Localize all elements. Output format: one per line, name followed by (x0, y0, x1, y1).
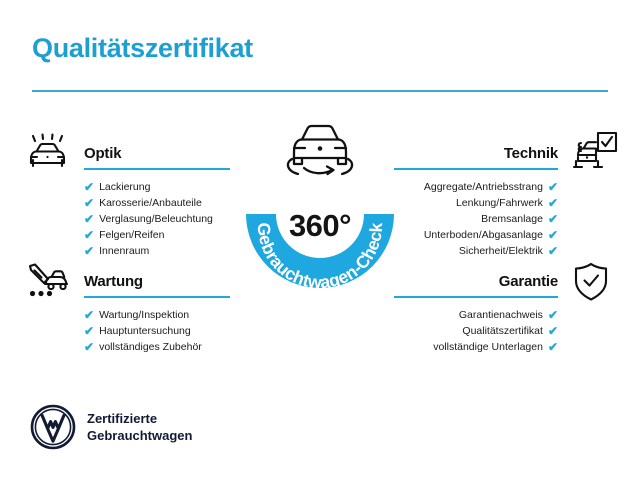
list-item-label: Lackierung (99, 179, 150, 195)
list-item: ✔Garantienachweis (394, 307, 558, 323)
list-item-label: Bremsanlage (481, 211, 543, 227)
section-wartung: Wartung ✔Wartung/Inspektion ✔Hauptunters… (84, 268, 230, 355)
check-icon: ✔ (84, 181, 94, 193)
check-icon: ✔ (548, 325, 558, 337)
list-item-label: vollständige Unterlagen (433, 339, 543, 355)
section-garantie-divider (394, 296, 558, 298)
list-item: ✔Hauptuntersuchung (84, 323, 230, 339)
list-item-label: Innenraum (99, 243, 149, 259)
list-item-label: Lenkung/Fahrwerk (456, 195, 543, 211)
list-item-label: Sicherheit/Elektrik (459, 243, 543, 259)
section-technik-divider (394, 168, 558, 170)
section-garantie: Garantie ✔Garantienachweis ✔Qualitätszer… (394, 268, 558, 355)
section-optik-title: Optik (84, 145, 121, 162)
list-item-label: Garantienachweis (459, 307, 543, 323)
car-lift-checkbox-icon (572, 131, 618, 173)
wrench-car-icon (26, 262, 72, 304)
list-item: ✔Lenkung/Fahrwerk (394, 195, 558, 211)
list-item-label: Wartung/Inspektion (99, 307, 189, 323)
list-item-label: Hauptuntersuchung (99, 323, 191, 339)
section-optik: Optik ✔Lackierung ✔Karosserie/Anbauteile… (84, 140, 230, 259)
check-icon: ✔ (548, 245, 558, 257)
car-shine-icon (26, 133, 72, 175)
list-item-label: Karosserie/Anbauteile (99, 195, 202, 211)
section-garantie-list: ✔Garantienachweis ✔Qualitätszertifikat ✔… (394, 307, 558, 355)
list-item-label: Felgen/Reifen (99, 227, 164, 243)
list-item-label: Qualitätszertifikat (462, 323, 543, 339)
list-item-label: Verglasung/Beleuchtung (99, 211, 213, 227)
list-item: ✔vollständige Unterlagen (394, 339, 558, 355)
section-technik: Technik ✔Aggregate/Antriebsstrang ✔Lenku… (394, 140, 558, 259)
check-icon: ✔ (84, 341, 94, 353)
section-optik-list: ✔Lackierung ✔Karosserie/Anbauteile ✔Verg… (84, 179, 230, 259)
section-garantie-title: Garantie (499, 273, 558, 290)
check-icon: ✔ (84, 245, 94, 257)
badge-center-label: 360° (236, 208, 404, 244)
header-divider (32, 90, 608, 92)
vw-certified-lockup: Zertifizierte Gebrauchtwagen (30, 404, 192, 450)
list-item: ✔Lackierung (84, 179, 230, 195)
section-wartung-divider (84, 296, 230, 298)
section-garantie-head: Garantie (394, 268, 558, 298)
section-technik-head: Technik (394, 140, 558, 170)
vw-logo-icon (30, 404, 76, 450)
section-optik-divider (84, 168, 230, 170)
list-item: ✔Karosserie/Anbauteile (84, 195, 230, 211)
list-item: ✔Felgen/Reifen (84, 227, 230, 243)
list-item: ✔Sicherheit/Elektrik (394, 243, 558, 259)
page-title: Qualitätszertifikat (32, 33, 253, 64)
section-wartung-title: Wartung (84, 273, 143, 290)
section-wartung-head: Wartung (84, 268, 230, 298)
section-optik-head: Optik (84, 140, 230, 170)
section-technik-title: Technik (504, 145, 558, 162)
check-icon: ✔ (548, 197, 558, 209)
list-item: ✔Qualitätszertifikat (394, 323, 558, 339)
check-icon: ✔ (548, 213, 558, 225)
check-icon: ✔ (84, 213, 94, 225)
list-item: ✔Verglasung/Beleuchtung (84, 211, 230, 227)
list-item: ✔Wartung/Inspektion (84, 307, 230, 323)
check-icon: ✔ (548, 181, 558, 193)
check-icon: ✔ (84, 197, 94, 209)
shield-check-icon (568, 261, 614, 303)
list-item: ✔vollständiges Zubehör (84, 339, 230, 355)
section-wartung-list: ✔Wartung/Inspektion ✔Hauptuntersuchung ✔… (84, 307, 230, 355)
list-item: ✔Unterboden/Abgasanlage (394, 227, 558, 243)
section-technik-list: ✔Aggregate/Antriebsstrang ✔Lenkung/Fahrw… (394, 179, 558, 259)
badge-360-gebrauchtwagen-check: Gebrauchtwagen-Check 360° (236, 118, 404, 308)
car-rotation-360-icon (278, 118, 362, 184)
list-item-label: Aggregate/Antriebsstrang (424, 179, 543, 195)
check-icon: ✔ (84, 325, 94, 337)
check-icon: ✔ (548, 309, 558, 321)
check-icon: ✔ (548, 229, 558, 241)
vw-lockup-text: Zertifizierte Gebrauchtwagen (87, 410, 192, 444)
check-icon: ✔ (548, 341, 558, 353)
check-icon: ✔ (84, 229, 94, 241)
list-item: ✔Aggregate/Antriebsstrang (394, 179, 558, 195)
list-item-label: Unterboden/Abgasanlage (424, 227, 543, 243)
check-icon: ✔ (84, 309, 94, 321)
list-item: ✔Bremsanlage (394, 211, 558, 227)
list-item: ✔Innenraum (84, 243, 230, 259)
list-item-label: vollständiges Zubehör (99, 339, 202, 355)
certificate-page: Qualitätszertifikat Optik ✔Lackierung ✔K… (0, 0, 640, 480)
